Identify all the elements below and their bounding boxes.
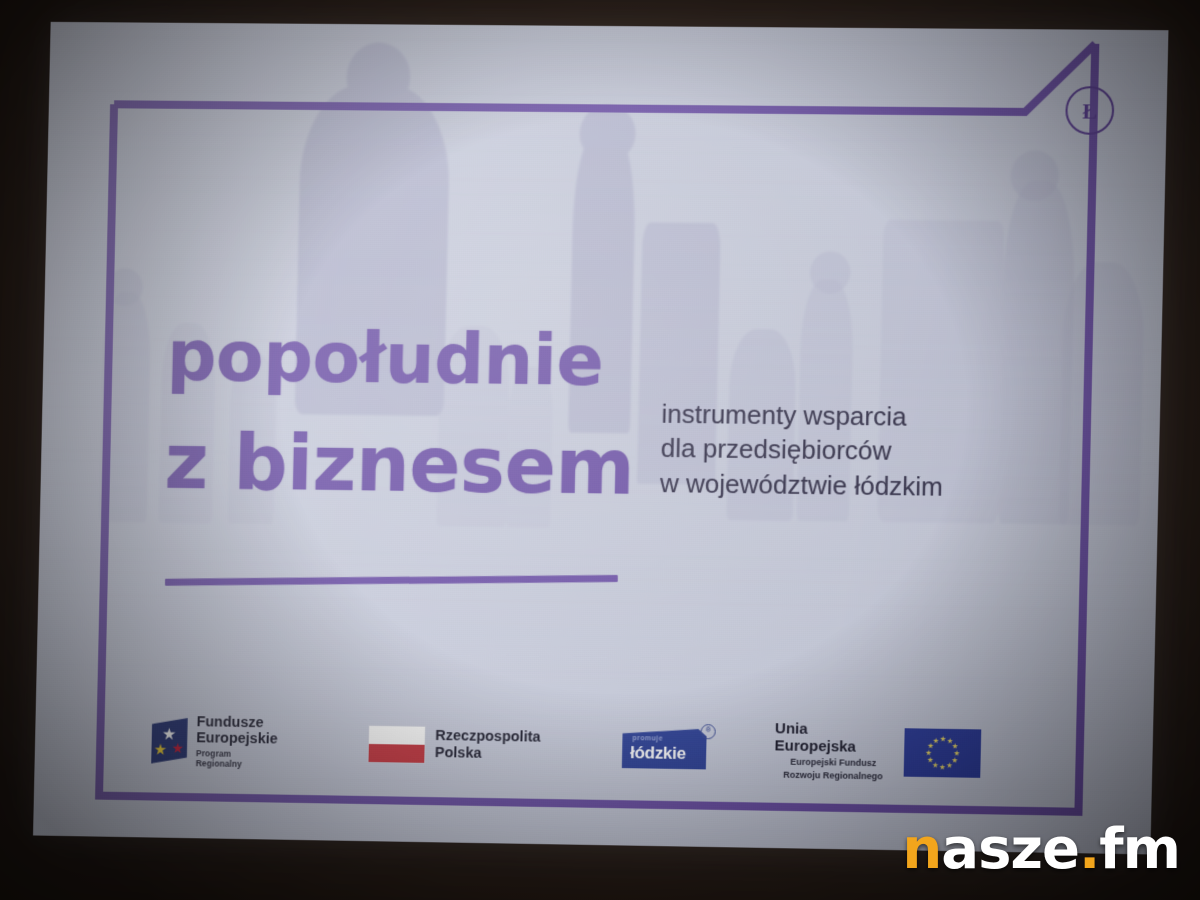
eu-star-icon: [954, 750, 960, 756]
subtitle-line-3: w województwie łódzkim: [660, 466, 944, 504]
corner-mark-letter: Ł: [1082, 100, 1097, 122]
nasze-fm-watermark: nasze.fm: [902, 822, 1180, 878]
eu-star-icon: [927, 757, 933, 763]
eu-star-icon: [933, 738, 939, 744]
logo-fundusze-europejskie: Fundusze Europejskie Program Regionalny: [151, 713, 281, 770]
eu-flag-icon: [904, 728, 981, 778]
eu-star-icon: [952, 757, 958, 763]
eu-star-icon: [952, 743, 958, 749]
watermark-dot: .: [1079, 817, 1099, 882]
subtitle-block: instrumenty wsparcia dla przedsiębiorców…: [660, 396, 945, 508]
registered-trademark-icon: ®: [701, 724, 716, 739]
eu-star-icon: [928, 743, 934, 749]
eu-star-icon: [932, 762, 938, 768]
watermark-tail: fm: [1099, 817, 1180, 882]
ue-line-2: Europejski Fundusz: [774, 757, 892, 770]
eu-star-icon: [947, 738, 953, 744]
subtitle-line-2: dla przedsiębiorców: [660, 431, 944, 469]
eu-star-icon: [940, 736, 946, 742]
eu-star-icon: [946, 762, 952, 768]
funding-logo-bar: Fundusze Europejskie Program Regionalny …: [151, 701, 982, 794]
eu-star-icon: [939, 764, 945, 770]
title-line-1: popołudnie: [166, 323, 1047, 401]
headline-block: popołudnie z biznesem instrumenty wsparc…: [164, 323, 1048, 510]
fe-line-3: Program Regionalny: [196, 749, 280, 769]
lodzkie-name-text: łódzkie: [630, 743, 686, 764]
photographed-projection-scene: Ł popołudnie z biznesem instrumenty wspa…: [0, 0, 1200, 900]
title-line-2: z biznesem: [164, 425, 635, 505]
rp-line-2: Polska: [435, 745, 541, 763]
logo-rzeczpospolita-polska: Rzeczpospolita Polska: [367, 725, 541, 766]
fe-line-1: Fundusze: [196, 714, 280, 732]
fundusze-europejskie-icon: [151, 718, 188, 765]
fe-line-2: Europejskie: [196, 730, 280, 748]
projected-slide: Ł popołudnie z biznesem instrumenty wspa…: [33, 22, 1168, 855]
rp-line-1: Rzeczpospolita: [435, 728, 541, 746]
ue-line-3: Rozwoju Regionalnego: [774, 770, 892, 783]
logo-promuje-lodzkie: promuje łódzkie ®: [622, 728, 713, 770]
lodzkie-badge-icon: promuje łódzkie ®: [622, 728, 707, 770]
eu-star-icon: [925, 750, 931, 756]
logo-unia-europejska: Unia Europejska Europejski Fundusz Rozwo…: [774, 720, 981, 783]
lodzkie-promuje-text: promuje: [632, 735, 663, 743]
slide-wrapper: Ł popołudnie z biznesem instrumenty wspa…: [0, 0, 1200, 900]
ue-line-1: Unia Europejska: [774, 720, 893, 756]
watermark-lead: n: [902, 817, 941, 882]
poland-flag-icon: [367, 725, 426, 764]
watermark-mid: asze: [941, 817, 1079, 882]
subtitle-line-1: instrumenty wsparcia: [661, 396, 945, 434]
